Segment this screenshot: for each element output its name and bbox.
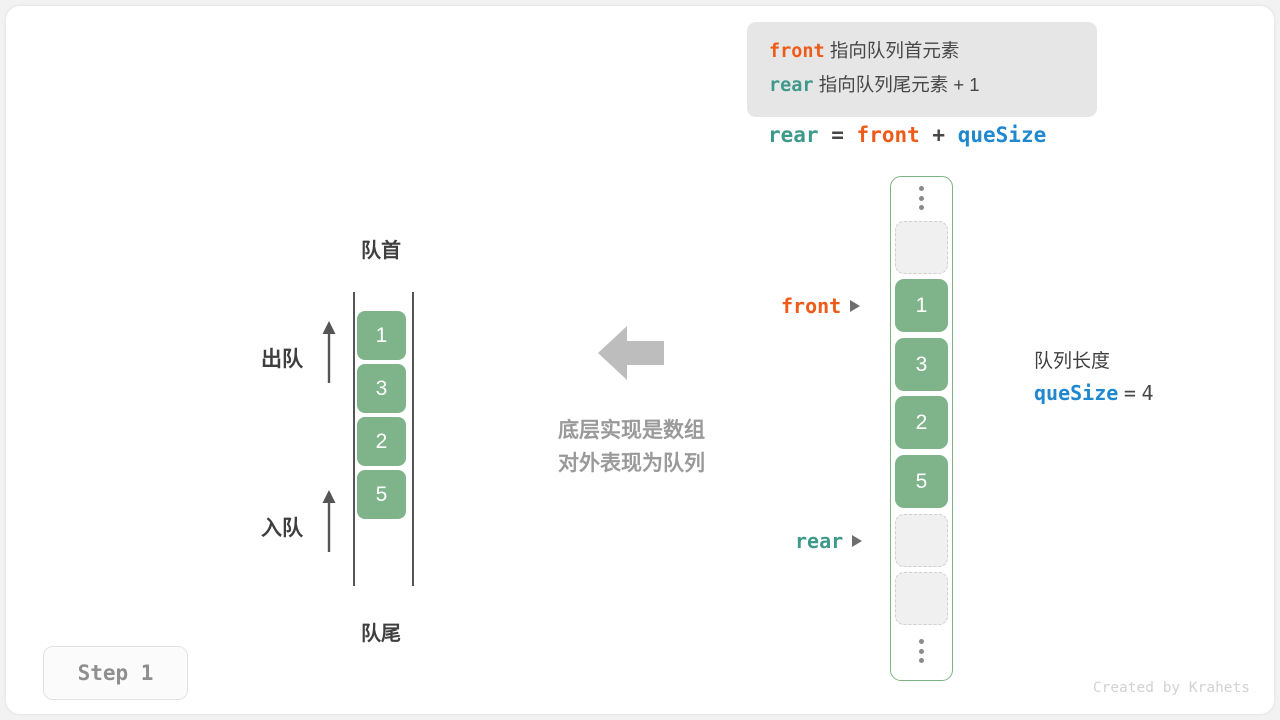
queue-cell-value: 2 (376, 430, 388, 454)
quesize-equals: = (1124, 381, 1136, 405)
enqueue-label: 入队 (261, 512, 303, 542)
legend-line-front: front 指向队列首元素 (769, 34, 1097, 68)
quesize-name: queSize (1034, 381, 1118, 405)
rear-pointer-label: rear (795, 529, 843, 553)
formula-equals: = (831, 123, 844, 147)
formula-plus: + (932, 123, 945, 147)
array-top-ellipsis (895, 178, 948, 218)
queue-head-label: 队首 (321, 234, 441, 263)
queue-cell-4: 5 (357, 470, 406, 519)
queue-cell-3: 2 (357, 417, 406, 466)
array-cell-value: 1 (916, 294, 928, 318)
middle-caption: 底层实现是数组 对外表现为队列 (524, 414, 739, 480)
array-cell-empty-top (895, 221, 948, 274)
queue-rail-left (353, 292, 355, 586)
legend-rear-text: 指向队列尾元素 + 1 (819, 74, 980, 95)
middle-caption-line2: 对外表现为队列 (524, 447, 739, 480)
queue-tail-label: 队尾 (321, 617, 441, 646)
arrow-right-icon (852, 535, 862, 547)
legend-front-term: front (769, 41, 825, 62)
quesize-value: 4 (1141, 381, 1153, 405)
array-cell-value: 5 (916, 470, 928, 494)
diagram-canvas: front 指向队列首元素 rear 指向队列尾元素 + 1 rear = fr… (6, 6, 1274, 714)
queue-cell-2: 3 (357, 364, 406, 413)
rear-pointer: rear (795, 529, 862, 553)
rear-formula: rear = front + queSize (768, 123, 1168, 147)
array-cell-value: 2 (916, 411, 928, 435)
enqueue-arrow-up-icon (321, 490, 337, 552)
quesize-caption: 队列长度 (1034, 348, 1254, 376)
queue-cell-value: 5 (376, 483, 388, 507)
quesize-annotation: 队列长度 queSize = 4 (1034, 348, 1254, 411)
quesize-expression: queSize = 4 (1034, 376, 1254, 411)
formula-front: front (857, 123, 920, 147)
legend-rear-term: rear (769, 75, 814, 96)
credit-text: Created by Krahets (1093, 680, 1250, 696)
arrow-right-icon (850, 300, 860, 312)
formula-rear: rear (768, 123, 819, 147)
front-pointer-label: front (781, 294, 841, 318)
pointer-legend-box: front 指向队列首元素 rear 指向队列尾元素 + 1 (747, 22, 1097, 117)
queue-rail-right (412, 292, 414, 586)
legend-line-rear: rear 指向队列尾元素 + 1 (769, 68, 1097, 102)
dequeue-arrow-up-icon (321, 321, 337, 383)
array-cell-4: 5 (895, 455, 948, 508)
transform-arrow-left-icon (598, 324, 664, 387)
legend-front-text: 指向队列首元素 (830, 40, 960, 61)
queue-cell-value: 1 (376, 324, 388, 348)
array-bottom-ellipsis (895, 631, 948, 671)
array-cell-empty-1 (895, 514, 948, 567)
formula-quesize: queSize (958, 123, 1047, 147)
array-cell-empty-2 (895, 572, 948, 625)
dequeue-label: 出队 (261, 343, 303, 373)
array-cell-1: 1 (895, 279, 948, 332)
array-cell-2: 3 (895, 338, 948, 391)
queue-cell-value: 3 (376, 377, 388, 401)
queue-cell-1: 1 (357, 311, 406, 360)
step-badge: Step 1 (43, 646, 188, 700)
middle-caption-line1: 底层实现是数组 (524, 414, 739, 447)
array-cell-3: 2 (895, 396, 948, 449)
array-cell-value: 3 (916, 353, 928, 377)
front-pointer: front (781, 294, 860, 318)
